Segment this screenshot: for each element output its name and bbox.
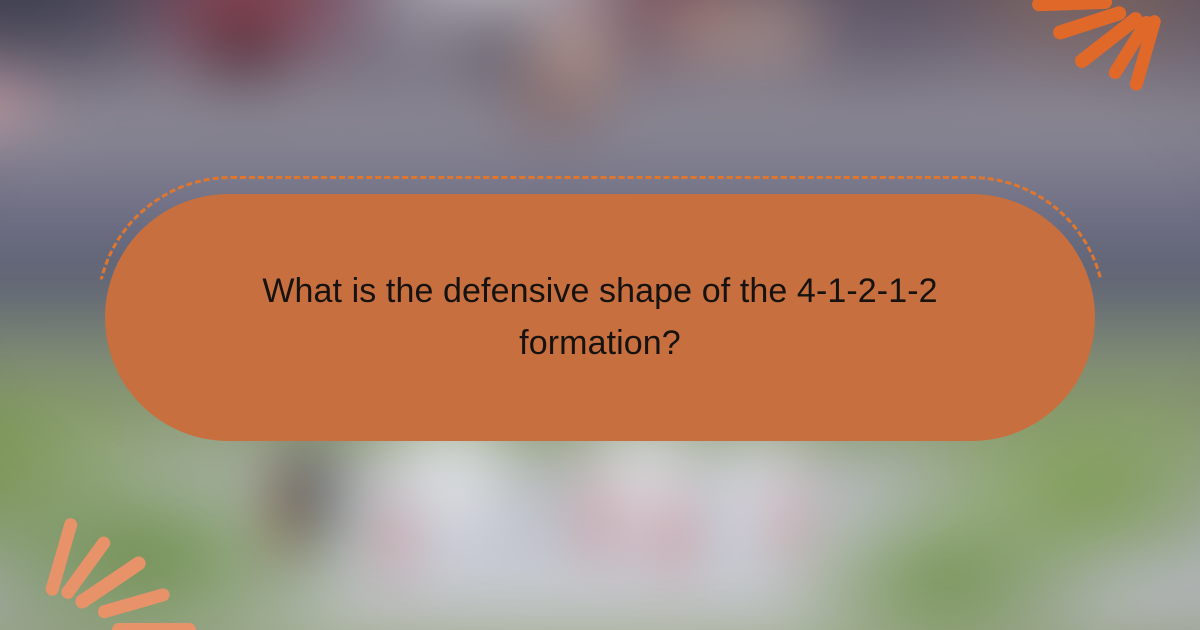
question-text: What is the defensive shape of the 4-1-2… [205,266,995,369]
quiz-card-screenshot: What is the defensive shape of the 4-1-2… [0,0,1200,630]
question-card: What is the defensive shape of the 4-1-2… [105,194,1095,441]
sparkle-ray [112,623,196,630]
